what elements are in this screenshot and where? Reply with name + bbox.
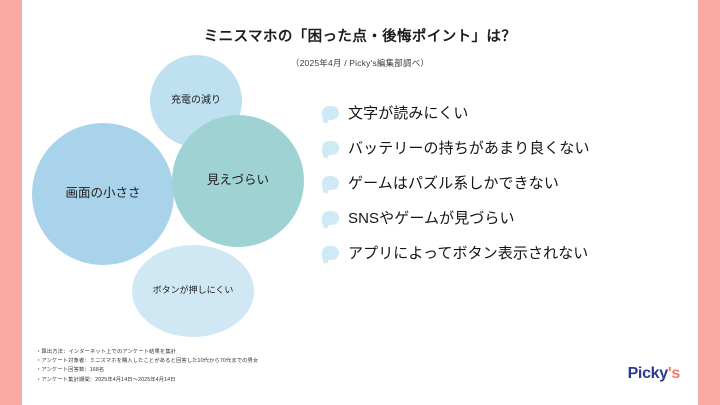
bubble-hard-to-see: 見えづらい	[172, 115, 304, 247]
bubble-label: 画面の小ささ	[65, 186, 140, 202]
list-item-label: 文字が読みにくい	[348, 105, 469, 123]
list-item-label: アプリによってボタン表示されない	[348, 245, 588, 263]
content-area: ミニスマホの「困った点・後悔ポイント」は？ （2025年4月 / Picky's…	[22, 0, 698, 405]
pain-point-list: 文字が読みにくい バッテリーの持ちがあまり良くない ゲームはパズル系しかできない…	[322, 105, 698, 280]
list-item-label: ゲームはパズル系しかできない	[348, 175, 559, 193]
speech-bubble-icon	[322, 141, 339, 155]
page-title: ミニスマホの「困った点・後悔ポイント」は？	[22, 28, 698, 47]
footnote: ・アンケート回答数：168名	[36, 366, 456, 375]
footnote: ・アンケート対象者：ミニスマホを購入したことがあると回答した10代から70代まで…	[36, 357, 456, 366]
speech-bubble-icon	[322, 246, 339, 260]
decorative-left-bar	[0, 0, 22, 405]
bubble-small-screen: 画面の小ささ	[32, 123, 174, 265]
footnote: ・アンケート集計期間：2025年4月14日～2025年4月14日	[36, 376, 456, 385]
speech-bubble-icon	[322, 211, 339, 225]
speech-bubble-icon	[322, 106, 339, 120]
bubble-label: 見えづらい	[207, 173, 269, 189]
footnote: ・算出方法：インターネット上でのアンケート結果を集計	[36, 348, 456, 357]
speech-bubble-icon	[322, 176, 339, 190]
infographic-canvas: ミニスマホの「困った点・後悔ポイント」は？ （2025年4月 / Picky's…	[0, 0, 720, 405]
brand-logo-text: Picky	[628, 365, 668, 382]
list-item: ゲームはパズル系しかできない	[322, 175, 698, 193]
list-item: SNSやゲームが見づらい	[322, 210, 698, 228]
list-item-label: SNSやゲームが見づらい	[348, 210, 515, 228]
decorative-right-bar	[698, 0, 720, 405]
list-item: 文字が読みにくい	[322, 105, 698, 123]
list-item-label: バッテリーの持ちがあまり良くない	[348, 140, 590, 158]
list-item: バッテリーの持ちがあまり良くない	[322, 140, 698, 158]
list-item: アプリによってボタン表示されない	[322, 245, 698, 263]
brand-logo-accent: 's	[668, 365, 680, 382]
bubble-hard-to-press-buttons: ボタンが押しにくい	[132, 245, 254, 337]
footnotes: ・算出方法：インターネット上でのアンケート結果を集計 ・アンケート対象者：ミニス…	[36, 348, 456, 385]
brand-logo: Picky's	[628, 365, 680, 383]
bubble-label: ボタンが押しにくい	[153, 285, 234, 296]
bubble-label: 充電の減り	[171, 95, 221, 108]
bubble-cluster: 充電の減り 画面の小ささ 見えづらい ボタンが押しにくい	[22, 55, 342, 345]
